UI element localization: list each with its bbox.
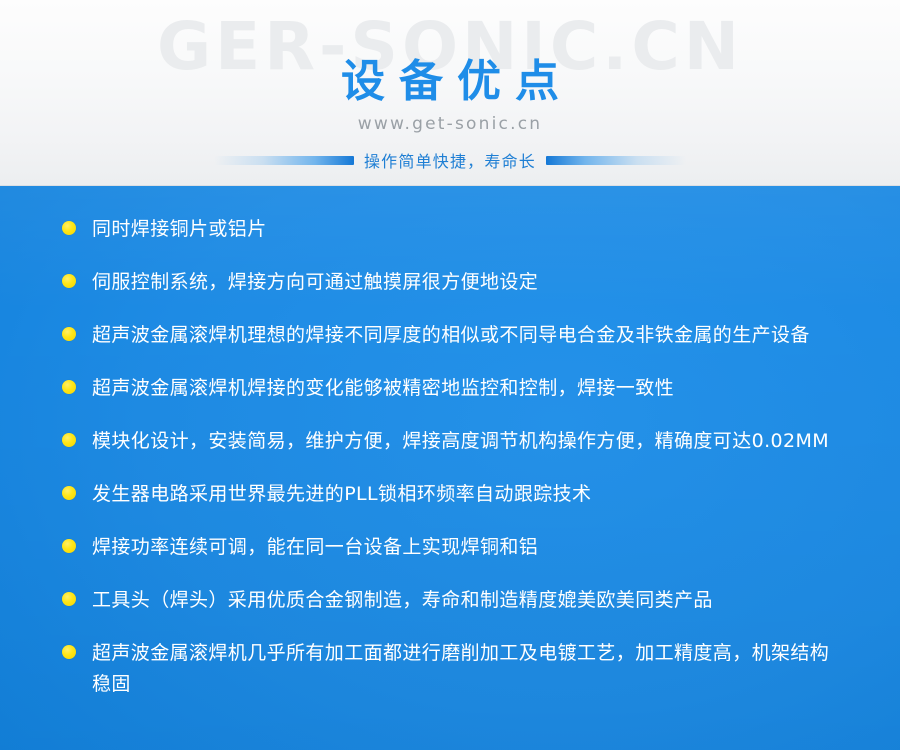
feature-text: 超声波金属滚焊机焊接的变化能够被精密地监控和控制，焊接一致性	[92, 373, 674, 404]
bullet-dot-icon	[62, 327, 76, 341]
list-item: 模块化设计，安装简易，维护方便，焊接高度调节机构操作方便，精确度可达0.02MM	[62, 426, 848, 457]
list-item: 超声波金属滚焊机理想的焊接不同厚度的相似或不同导电合金及非铁金属的生产设备	[62, 320, 848, 351]
feature-text: 超声波金属滚焊机几乎所有加工面都进行磨削加工及电镀工艺，加工精度高，机架结构稳固	[92, 638, 848, 700]
features-panel: 同时焊接铜片或铝片 伺服控制系统，焊接方向可通过触摸屏很方便地设定 超声波金属滚…	[0, 186, 900, 750]
list-item: 发生器电路采用世界最先进的PLL锁相环频率自动跟踪技术	[62, 479, 848, 510]
banner-header: GER-SONIC.CN 设备优点 www.get-sonic.cn 操作简单快…	[0, 0, 900, 186]
feature-text: 工具头（焊头）采用优质合金钢制造，寿命和制造精度媲美欧美同类产品	[92, 585, 713, 616]
site-url-text: www.get-sonic.cn	[0, 114, 900, 134]
feature-text: 发生器电路采用世界最先进的PLL锁相环频率自动跟踪技术	[92, 479, 591, 510]
bullet-dot-icon	[62, 592, 76, 606]
bullet-dot-icon	[62, 274, 76, 288]
feature-text: 模块化设计，安装简易，维护方便，焊接高度调节机构操作方便，精确度可达0.02MM	[92, 426, 829, 457]
feature-text: 伺服控制系统，焊接方向可通过触摸屏很方便地设定	[92, 267, 538, 298]
bullet-dot-icon	[62, 221, 76, 235]
bullet-dot-icon	[62, 539, 76, 553]
page-title: 设备优点	[0, 0, 900, 108]
decorative-bar-right-icon	[546, 156, 686, 165]
list-item: 伺服控制系统，焊接方向可通过触摸屏很方便地设定	[62, 267, 848, 298]
list-item: 焊接功率连续可调，能在同一台设备上实现焊铜和铝	[62, 532, 848, 563]
bullet-dot-icon	[62, 380, 76, 394]
list-item: 同时焊接铜片或铝片	[62, 214, 848, 245]
product-feature-banner: GER-SONIC.CN 设备优点 www.get-sonic.cn 操作简单快…	[0, 0, 900, 750]
list-item: 超声波金属滚焊机几乎所有加工面都进行磨削加工及电镀工艺，加工精度高，机架结构稳固	[62, 638, 848, 700]
list-item: 超声波金属滚焊机焊接的变化能够被精密地监控和控制，焊接一致性	[62, 373, 848, 404]
decorative-bar-left-icon	[214, 156, 354, 165]
subtitle-text: 操作简单快捷，寿命长	[364, 148, 536, 172]
list-item: 工具头（焊头）采用优质合金钢制造，寿命和制造精度媲美欧美同类产品	[62, 585, 848, 616]
bullet-dot-icon	[62, 433, 76, 447]
subtitle-row: 操作简单快捷，寿命长	[0, 148, 900, 172]
feature-text: 焊接功率连续可调，能在同一台设备上实现焊铜和铝	[92, 532, 538, 563]
bullet-dot-icon	[62, 645, 76, 659]
feature-text: 超声波金属滚焊机理想的焊接不同厚度的相似或不同导电合金及非铁金属的生产设备	[92, 320, 810, 351]
bullet-dot-icon	[62, 486, 76, 500]
feature-list: 同时焊接铜片或铝片 伺服控制系统，焊接方向可通过触摸屏很方便地设定 超声波金属滚…	[0, 186, 900, 700]
feature-text: 同时焊接铜片或铝片	[92, 214, 267, 245]
header-content: 设备优点 www.get-sonic.cn 操作简单快捷，寿命长	[0, 0, 900, 172]
